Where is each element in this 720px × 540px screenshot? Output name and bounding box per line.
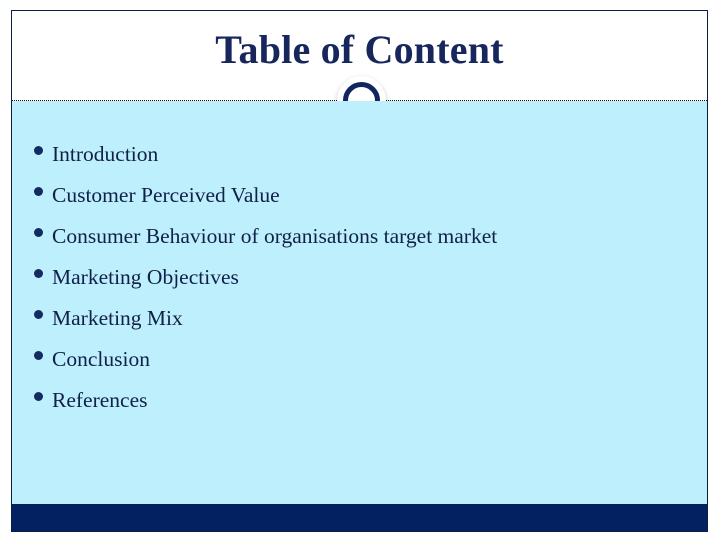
list-item-label: Customer Perceived Value: [52, 183, 280, 207]
presentation-slide: Table of Content Introduction Customer P…: [11, 10, 708, 532]
bullet-dot-icon: [34, 310, 43, 319]
list-item[interactable]: Marketing Mix: [30, 308, 697, 330]
list-item[interactable]: Introduction: [30, 144, 697, 166]
list-item[interactable]: Conclusion: [30, 349, 697, 371]
list-item-label: Introduction: [52, 142, 158, 166]
bullet-dot-icon: [34, 146, 43, 155]
slide-body: Introduction Customer Perceived Value Co…: [12, 101, 707, 506]
list-item-label: Conclusion: [52, 347, 150, 371]
list-item[interactable]: Consumer Behaviour of organisations targ…: [30, 226, 697, 248]
list-item[interactable]: References: [30, 390, 697, 412]
table-of-contents-list: Introduction Customer Perceived Value Co…: [30, 144, 697, 412]
bullet-dot-icon: [34, 351, 43, 360]
list-item-label: Marketing Mix: [52, 306, 183, 330]
bullet-dot-icon: [34, 269, 43, 278]
list-item[interactable]: Marketing Objectives: [30, 267, 697, 289]
bullet-dot-icon: [34, 228, 43, 237]
page-title: Table of Content: [12, 28, 707, 72]
bullet-dot-icon: [34, 392, 43, 401]
list-item-label: References: [52, 388, 148, 412]
footer-bar: [12, 504, 707, 531]
list-item-label: Consumer Behaviour of organisations targ…: [52, 224, 497, 248]
list-item-label: Marketing Objectives: [52, 265, 239, 289]
bullet-dot-icon: [34, 187, 43, 196]
list-item[interactable]: Customer Perceived Value: [30, 185, 697, 207]
